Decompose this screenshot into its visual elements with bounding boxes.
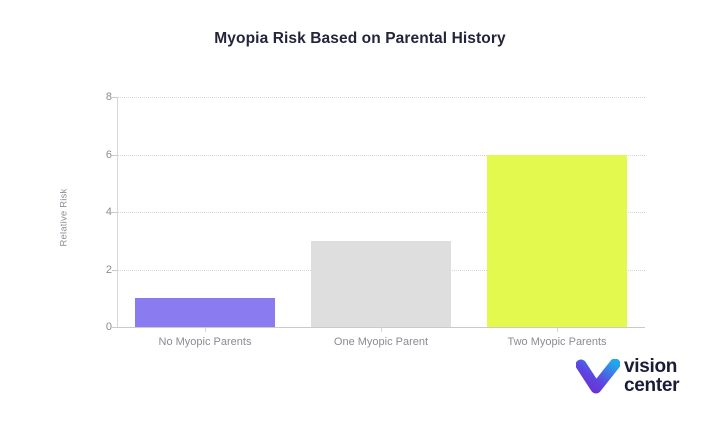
y-axis-title: Relative Risk <box>59 148 70 288</box>
y-tick-label-2: 2 <box>96 264 112 276</box>
vision-center-logo: vision center <box>576 354 712 400</box>
gridline-8 <box>117 97 645 98</box>
x-tick-mark-2 <box>381 327 382 332</box>
logo-wordmark: vision center <box>624 358 679 395</box>
y-tick-label-4: 4 <box>96 206 112 218</box>
x-tick-mark-3 <box>557 327 558 332</box>
y-tick-label-6: 6 <box>96 149 112 161</box>
bar-3 <box>487 155 626 328</box>
bar-1 <box>135 298 274 327</box>
y-tick-label-0: 0 <box>96 321 112 333</box>
logo-wordmark-line2: center <box>624 377 679 396</box>
vision-center-v-mark-icon <box>576 359 620 395</box>
chart-title: Myopia Risk Based on Parental History <box>0 30 720 48</box>
x-tick-label-2: One Myopic Parent <box>334 336 428 348</box>
y-tick-label-8: 8 <box>96 91 112 103</box>
plot-area <box>117 97 645 327</box>
x-tick-mark-1 <box>205 327 206 332</box>
x-tick-label-3: Two Myopic Parents <box>507 336 606 348</box>
x-tick-label-1: No Myopic Parents <box>159 336 252 348</box>
bar-2 <box>311 241 450 327</box>
myopia-risk-bar-chart: Myopia Risk Based on Parental History Re… <box>0 0 720 422</box>
